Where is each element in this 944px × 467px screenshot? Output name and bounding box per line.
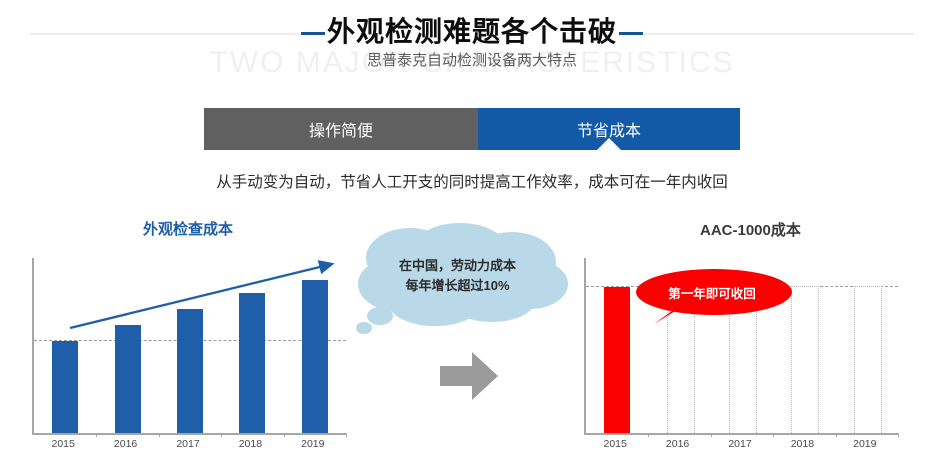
bar: [604, 287, 630, 433]
left-chart-x-axis-labels: 20152016201720182019: [32, 438, 344, 460]
transition-right-arrow-icon: [438, 348, 500, 404]
x-axis-label: 2017: [176, 438, 199, 450]
payback-badge-label: 第一年即可收回: [632, 283, 792, 302]
page-subtitle: 思普泰克自动检测设备两大特点: [0, 49, 944, 70]
bar: [52, 341, 78, 433]
x-axis-label: 2018: [791, 438, 814, 450]
axis-tick: [898, 433, 899, 437]
tab-operation-simple[interactable]: 操作简便: [204, 108, 478, 150]
axis-tick: [773, 433, 774, 437]
left-chart-title: 外观检查成本: [143, 218, 233, 239]
cloud-line-2: 每年增长超过10%: [340, 276, 575, 296]
axis-tick: [836, 433, 837, 437]
axis-tick: [346, 433, 347, 437]
x-axis-label: 2015: [604, 438, 627, 450]
cloud-line-1: 在中国，劳动力成本: [340, 256, 575, 276]
x-axis-label: 2016: [666, 438, 689, 450]
cloud-callout: 在中国，劳动力成本 每年增长超过10%: [340, 222, 575, 337]
lead-description: 从手动变为自动，节省人工开支的同时提高工作效率，成本可在一年内收回: [0, 170, 944, 192]
ghost-bar: [854, 286, 882, 433]
bar: [177, 309, 203, 433]
x-axis-label: 2015: [52, 438, 75, 450]
page-header: TWO MAJOR CHARACTERISTICS 外观检测难题各个击破 思普泰…: [0, 0, 944, 92]
x-axis-label: 2019: [853, 438, 876, 450]
bar: [115, 325, 141, 433]
right-chart-x-axis-labels: 20152016201720182019: [584, 438, 896, 460]
axis-tick: [221, 433, 222, 437]
x-axis-label: 2019: [301, 438, 324, 450]
bar: [239, 293, 265, 433]
x-axis-label: 2018: [239, 438, 262, 450]
cloud-callout-text: 在中国，劳动力成本 每年增长超过10%: [340, 256, 575, 296]
bar: [302, 280, 328, 433]
axis-tick: [284, 433, 285, 437]
left-chart-plot-area: [34, 258, 346, 433]
x-axis-label: 2017: [728, 438, 751, 450]
tab-label: 节省成本: [577, 117, 641, 141]
page-title: 外观检测难题各个击破: [0, 10, 944, 50]
payback-badge: 第一年即可收回: [632, 268, 802, 326]
axis-tick: [711, 433, 712, 437]
left-bar-chart: [32, 258, 346, 435]
right-chart-title: AAC-1000成本: [700, 219, 801, 240]
x-axis-label: 2016: [114, 438, 137, 450]
tab-save-cost[interactable]: 节省成本: [478, 108, 740, 150]
axis-tick: [96, 433, 97, 437]
tab-label: 操作简便: [309, 117, 373, 141]
axis-tick: [648, 433, 649, 437]
axis-tick: [159, 433, 160, 437]
tab-bar: 操作简便 节省成本: [204, 108, 740, 150]
